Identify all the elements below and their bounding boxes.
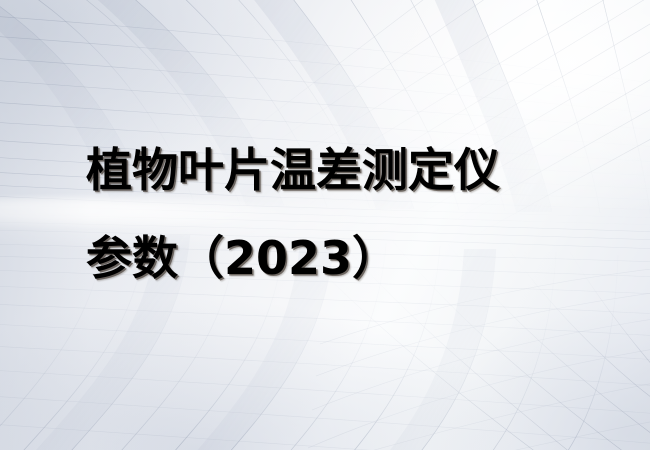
title-line-1: 植物叶片温差测定仪 [86, 126, 606, 214]
slide-canvas: 植物叶片温差测定仪 参数（2023） [0, 0, 650, 450]
title-line-2: 参数（2023） [86, 214, 606, 302]
page-title: 植物叶片温差测定仪 参数（2023） [86, 126, 606, 302]
